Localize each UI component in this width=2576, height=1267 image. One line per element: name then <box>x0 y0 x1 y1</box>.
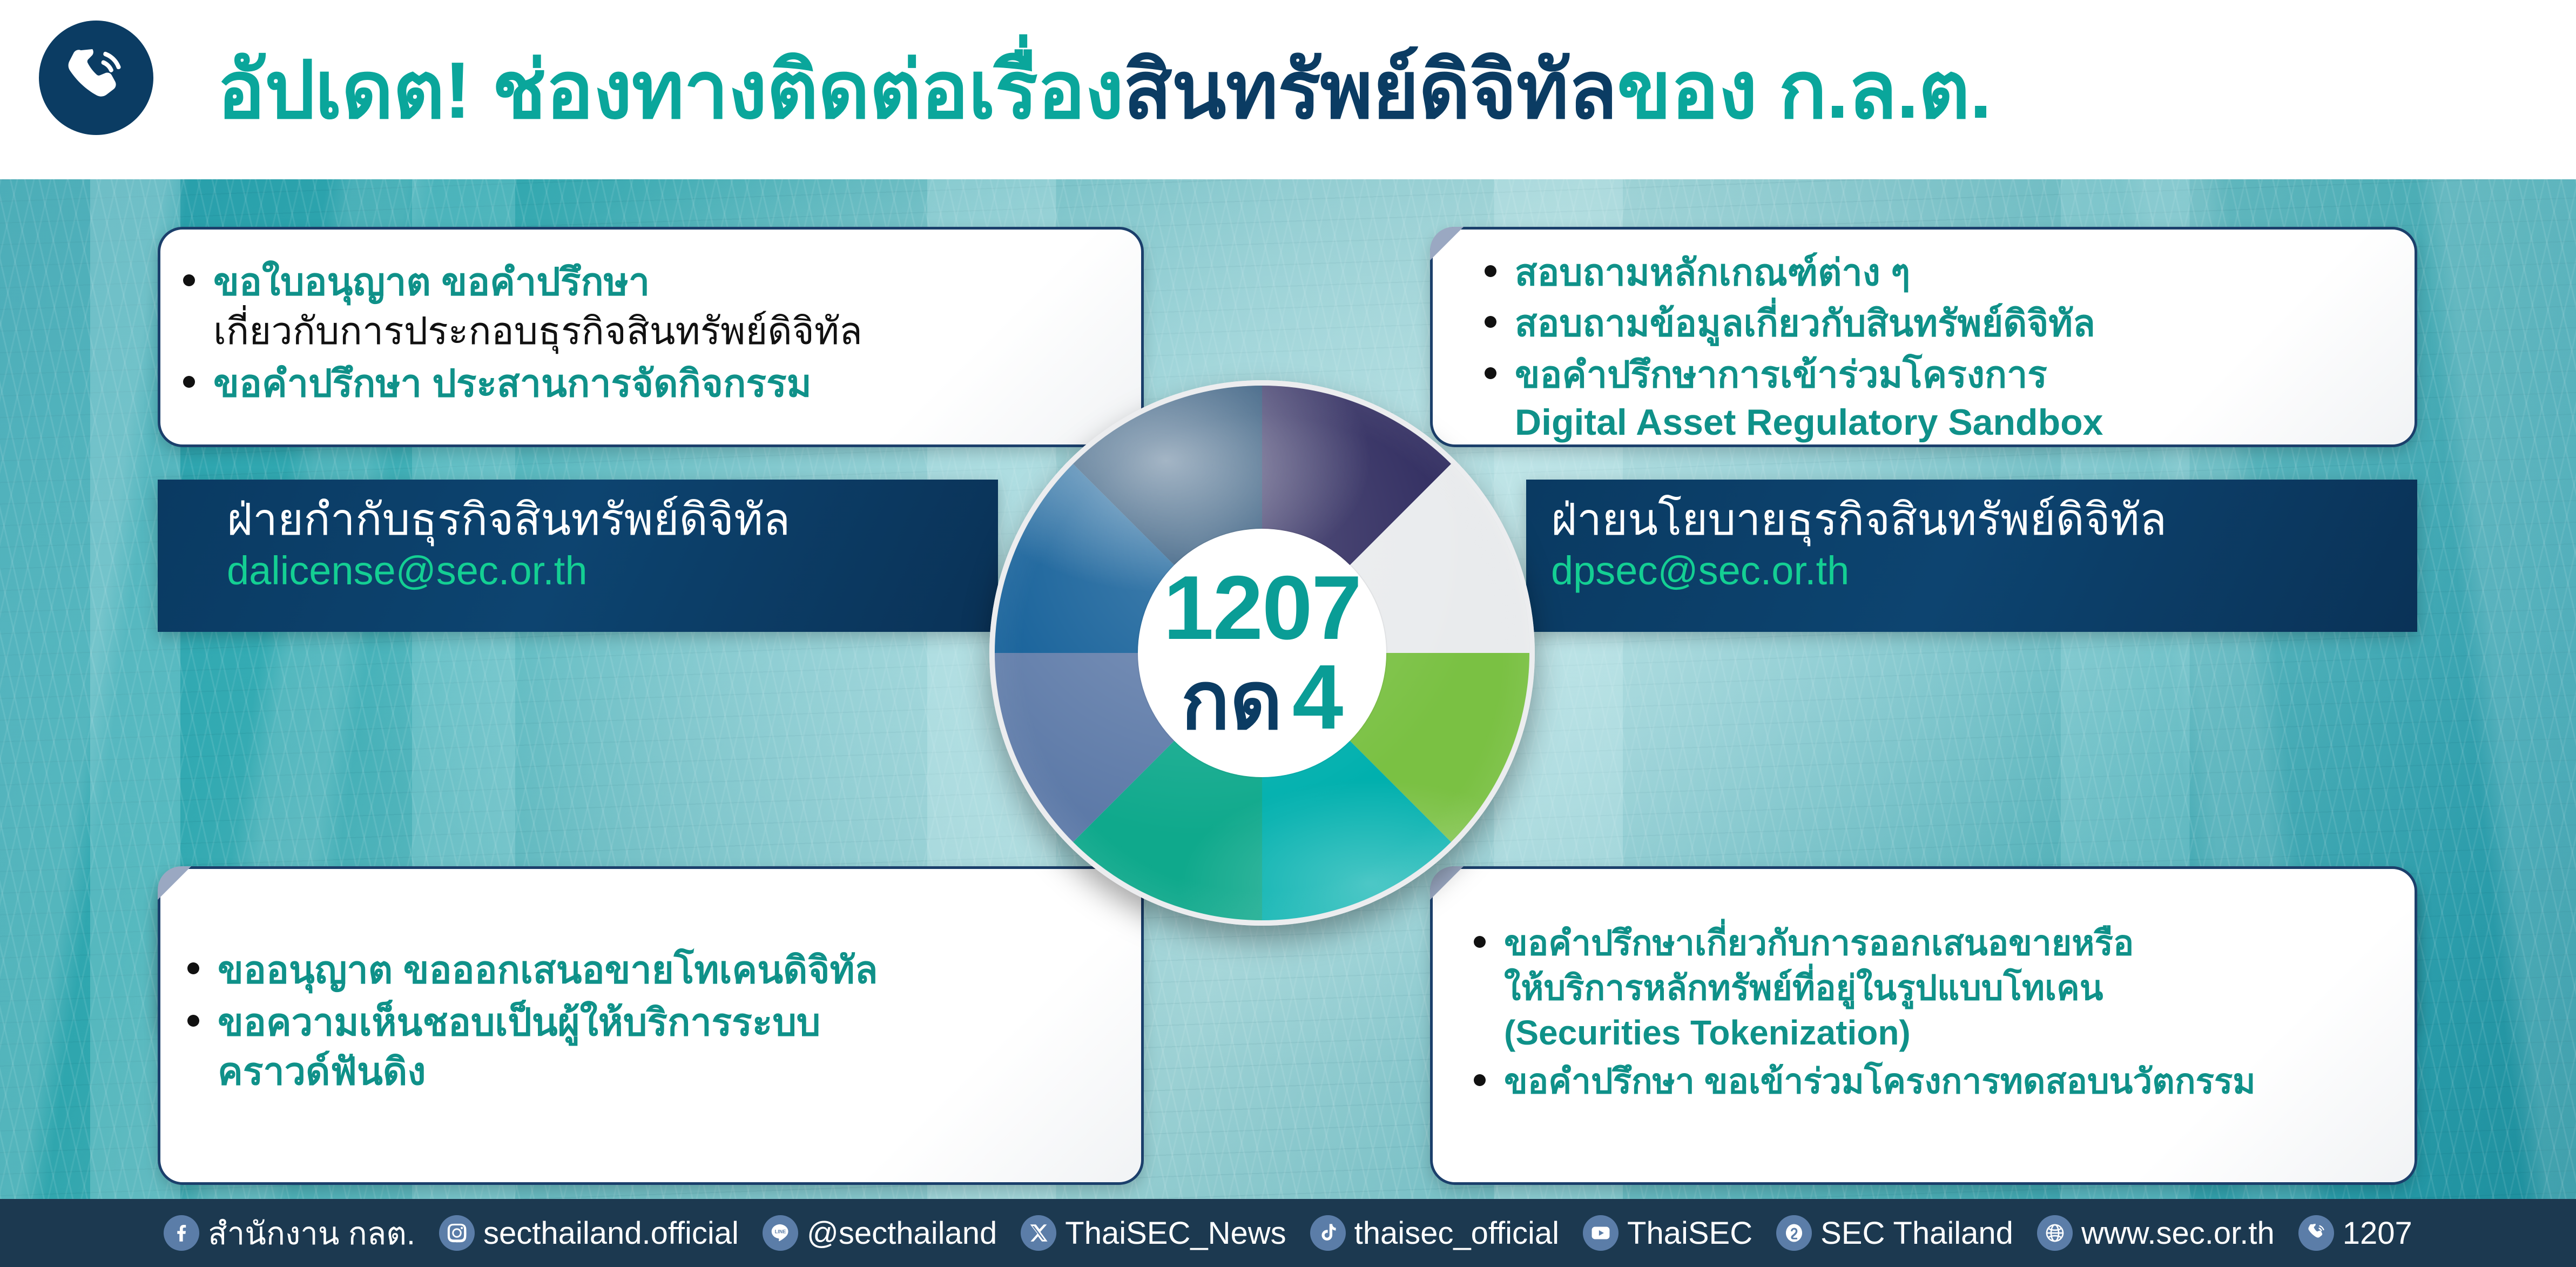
list-item: สอบถามข้อมูลเกี่ยวกับสินทรัพย์ดิจิทัล <box>1476 300 2382 347</box>
list-item: ขอคำปรึกษาการเข้าร่วมโครงการ Digital Ass… <box>1476 351 2382 447</box>
title-segment-1: อัปเดต! ช่องทางติดต่อเรื่อง <box>217 26 1123 153</box>
bullet-list: ขออนุญาต ขอออกเสนอขายโทเคนดิจิทัล ขอความ… <box>179 946 1109 1096</box>
youtube-icon <box>1583 1215 1619 1251</box>
hotline-wheel: 1207 กด 4 <box>989 380 1535 926</box>
list-item: สอบถามหลักเกณฑ์ต่าง ๆ <box>1476 249 2382 296</box>
social-label: @secthailand <box>807 1215 997 1251</box>
page-title: อัปเดต! ช่องทางติดต่อเรื่อง สินทรัพย์ดิจ… <box>217 0 1991 179</box>
dept-email[interactable]: dpsec@sec.or.th <box>1551 551 2417 591</box>
bullet-line: ขอคำปรึกษา ขอเข้าร่วมโครงการทดสอบนวัตกรร… <box>1504 1062 2256 1101</box>
globe-icon <box>2037 1215 2073 1251</box>
bullet-line: ขออนุญาต ขอออกเสนอขายโทเคนดิจิทัล <box>218 949 878 991</box>
bullet-line: ขอคำปรึกษาเกี่ยวกับการออกเสนอขายหรือ <box>1504 924 2134 962</box>
title-segment-3: ของ ก.ล.ต. <box>1617 26 1991 153</box>
list-item: ขอคำปรึกษา ขอเข้าร่วมโครงการทดสอบนวัตกรร… <box>1465 1059 2393 1104</box>
bullet-line: เกี่ยวกับการประกอบธุรกิจสินทรัพย์ดิจิทัล <box>213 310 862 352</box>
bullet-line: Digital Asset Regulatory Sandbox <box>1515 402 2103 443</box>
social-label: thaisec_official <box>1354 1215 1559 1251</box>
facebook-icon <box>164 1215 199 1251</box>
dept-name: ฝ่ายนโยบายธุรกิจสินทรัพย์ดิจิทัล <box>1551 498 2417 542</box>
title-segment-2: สินทรัพย์ดิจิทัล <box>1123 26 1617 153</box>
social-item-youtube[interactable]: ThaiSEC <box>1583 1215 1752 1251</box>
social-item-threads[interactable]: SEC Thailand <box>1776 1215 2013 1251</box>
bullet-line: สอบถามข้อมูลเกี่ยวกับสินทรัพย์ดิจิทัล <box>1515 303 2095 344</box>
bullet-list: สอบถามหลักเกณฑ์ต่าง ๆ สอบถามข้อมูลเกี่ยว… <box>1476 249 2382 447</box>
social-item-website[interactable]: www.sec.or.th <box>2037 1215 2275 1251</box>
press-label: กด <box>1181 661 1283 740</box>
bullet-list: ขอใบอนุญาต ขอคำปรึกษา เกี่ยวกับการประกอบ… <box>174 258 1109 408</box>
hotline-hub: 1207 กด 4 <box>1138 529 1386 777</box>
list-item: ขอคำปรึกษา ประสานการจัดกิจกรรม <box>174 359 1109 408</box>
social-item-hotline[interactable]: 1207 <box>2298 1215 2412 1251</box>
tiktok-icon <box>1310 1215 1346 1251</box>
bullet-line: ขอคำปรึกษา ประสานการจัดกิจกรรม <box>213 362 812 405</box>
phone-icon <box>2298 1215 2334 1251</box>
social-item-line[interactable]: LINE @secthailand <box>763 1215 997 1251</box>
social-label: ThaiSEC <box>1627 1215 1752 1251</box>
hotline-number: 1207 <box>1163 563 1361 652</box>
social-item-x[interactable]: ThaiSEC_News <box>1021 1215 1286 1251</box>
bullet-card-top-right: สอบถามหลักเกณฑ์ต่าง ๆ สอบถามข้อมูลเกี่ยว… <box>1430 227 2417 447</box>
dept-bar-upper-left[interactable]: ฝ่ายกำกับธุรกิจสินทรัพย์ดิจิทัล dalicens… <box>158 480 998 632</box>
x-twitter-icon <box>1021 1215 1056 1251</box>
social-footer: สำนักงาน กลต. secthailand.official LINE … <box>0 1199 2576 1267</box>
infographic-stage: ขอใบอนุญาต ขอคำปรึกษา เกี่ยวกับการประกอบ… <box>0 179 2576 1199</box>
press-number: 4 <box>1292 652 1344 743</box>
social-label: 1207 <box>2343 1215 2412 1251</box>
bullet-line: ขอใบอนุญาต ขอคำปรึกษา <box>213 261 650 303</box>
dept-bar-upper-right[interactable]: ฝ่ายนโยบายธุรกิจสินทรัพย์ดิจิทัล dpsec@s… <box>1526 480 2417 632</box>
bullet-line: คราวด์ฟันดิง <box>218 1050 426 1093</box>
bullet-line: (Securities Tokenization) <box>1504 1013 1911 1052</box>
instagram-icon <box>439 1215 475 1251</box>
bullet-list: ขอคำปรึกษาเกี่ยวกับการออกเสนอขายหรือ ให้… <box>1465 921 2393 1104</box>
social-item-instagram[interactable]: secthailand.official <box>439 1215 739 1251</box>
line-icon: LINE <box>763 1215 798 1251</box>
social-item-tiktok[interactable]: thaisec_official <box>1310 1215 1559 1251</box>
list-item: ขอใบอนุญาต ขอคำปรึกษา เกี่ยวกับการประกอบ… <box>174 258 1109 356</box>
list-item: ขอคำปรึกษาเกี่ยวกับการออกเสนอขายหรือ ให้… <box>1465 921 2393 1056</box>
threads-icon <box>1776 1215 1812 1251</box>
bullet-card-bottom-right: ขอคำปรึกษาเกี่ยวกับการออกเสนอขายหรือ ให้… <box>1430 866 2417 1185</box>
bullet-line: ขอคำปรึกษาการเข้าร่วมโครงการ <box>1515 354 2047 395</box>
social-label: www.sec.or.th <box>2081 1215 2275 1251</box>
header-bar: อัปเดต! ช่องทางติดต่อเรื่อง สินทรัพย์ดิจ… <box>0 0 2576 179</box>
bullet-line: ขอความเห็นชอบเป็นผู้ให้บริการระบบ <box>218 1001 820 1043</box>
social-label: SEC Thailand <box>1820 1215 2013 1251</box>
svg-text:LINE: LINE <box>775 1229 786 1235</box>
list-item: ขอความเห็นชอบเป็นผู้ให้บริการระบบ คราวด์… <box>179 998 1109 1096</box>
social-label: secthailand.official <box>483 1215 739 1251</box>
social-label: สำนักงาน กลต. <box>208 1208 415 1258</box>
social-item-facebook[interactable]: สำนักงาน กลต. <box>164 1208 415 1258</box>
list-item: ขออนุญาต ขอออกเสนอขายโทเคนดิจิทัล <box>179 946 1109 995</box>
social-label: ThaiSEC_News <box>1065 1215 1286 1251</box>
dept-name: ฝ่ายกำกับธุรกิจสินทรัพย์ดิจิทัล <box>227 498 998 542</box>
bullet-line: ให้บริการหลักทรัพย์ที่อยู่ในรูปแบบโทเคน <box>1504 968 2103 1007</box>
phone-in-circle-icon <box>39 21 153 135</box>
dept-email[interactable]: dalicense@sec.or.th <box>227 551 998 591</box>
bullet-line: สอบถามหลักเกณฑ์ต่าง ๆ <box>1515 252 1910 293</box>
